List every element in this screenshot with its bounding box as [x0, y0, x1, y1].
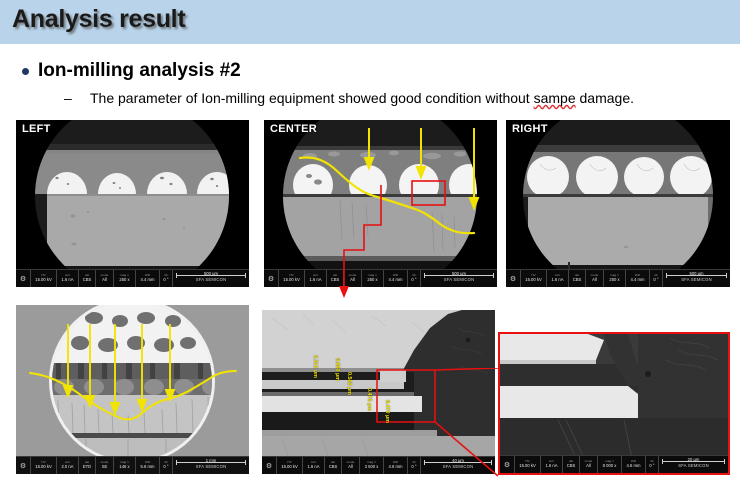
- databar-value: 0 °: [653, 278, 658, 282]
- databar-value: 0 °: [163, 465, 168, 469]
- scale-bar-bottom-left: 1 mm SFA SEMICON: [173, 457, 249, 474]
- databar-value: All: [592, 278, 597, 282]
- databar-value: 4.4 mm: [631, 278, 645, 282]
- databar-value: 0 °: [411, 278, 416, 282]
- scale-bar-line-icon: [666, 275, 728, 276]
- roi-rectangle-bottom-center[interactable]: [262, 310, 495, 474]
- vendor-name: SFA SEMICON: [196, 277, 227, 282]
- vendor-logo-icon: ⚙: [16, 457, 31, 474]
- vendor-name: SFA SEMICON: [681, 277, 712, 282]
- sem-image-center: [264, 120, 497, 287]
- databar-value: 250 x: [609, 278, 619, 282]
- databar-value: 0 °: [411, 465, 416, 469]
- scale-bar-right: 500 µm SFA SEMICON: [663, 270, 730, 287]
- misspelled-word: sampe: [534, 90, 576, 106]
- sem-image-bottom-center: [262, 310, 495, 474]
- databar-value: 8 000 x: [603, 464, 617, 468]
- scale-bar-line-icon: [176, 275, 246, 276]
- sem-panel-center[interactable]: CENTER ⚙ HV15.00 kV curr1.6 nA detCBS mo…: [264, 120, 497, 287]
- databar-value: All: [348, 465, 353, 469]
- measurement-label: 8.470 µm: [384, 400, 390, 423]
- databar-value: CBS: [567, 464, 576, 468]
- scale-bar-bottom-right: 20 µm SFA SEMICON: [659, 456, 728, 473]
- sem-image-bottom-left: [16, 305, 249, 474]
- sub-text-after: damage.: [576, 90, 634, 106]
- vendor-logo-icon: ⚙: [500, 456, 515, 473]
- databar-value: All: [586, 464, 591, 468]
- roi-rectangle-center[interactable]: [264, 120, 497, 287]
- yellow-annotation-overlay-center: [264, 120, 497, 287]
- dash-icon: –: [64, 90, 90, 106]
- panel-label-left: LEFT: [22, 123, 51, 135]
- measurement-label: 2.312 µm: [312, 355, 318, 378]
- databar-value: 1.6 nA: [309, 278, 321, 282]
- databar-value: All: [102, 278, 107, 282]
- databar-value: 5.6 mm: [141, 465, 155, 469]
- databar-value: 15.00 kV: [35, 465, 52, 469]
- databar-bottom-right: ⚙ HV15.00 kV curr1.6 nA detCBS modeAll m…: [500, 455, 728, 473]
- vendor-logo-icon: ⚙: [16, 270, 31, 287]
- databar-value: 15.00 kV: [519, 464, 536, 468]
- scale-bar-line-icon: [424, 275, 494, 276]
- databar-left: ⚙ HV15.00 kV curr1.6 nA detCBS modeAll m…: [16, 269, 249, 287]
- scale-bar-line-icon: [176, 462, 246, 463]
- scale-bar-line-icon: [424, 462, 492, 463]
- databar-value: 1.6 nA: [61, 278, 73, 282]
- databar-value: 250 x: [119, 278, 129, 282]
- sem-panel-bottom-right[interactable]: ⚙ HV15.00 kV curr1.6 nA detCBS modeAll m…: [498, 332, 730, 475]
- databar-value: 15.00 kV: [525, 278, 542, 282]
- databar-value: CBS: [573, 278, 582, 282]
- measurement-label: 0.860 µm: [334, 358, 340, 381]
- sub-bullet-label: The parameter of Ion-milling equipment s…: [90, 90, 634, 106]
- sem-image-left: [16, 120, 249, 287]
- vendor-name: SFA SEMICON: [443, 464, 474, 469]
- databar-value: 250 x: [367, 278, 377, 282]
- scale-bar-left: 500 µm SFA SEMICON: [173, 270, 249, 287]
- databar-value: SE: [102, 465, 108, 469]
- panel-label-center: CENTER: [270, 123, 317, 135]
- databar-value: 4.6 mm: [389, 465, 403, 469]
- scale-bar-line-icon: [662, 461, 725, 462]
- databar-value: 4.6 mm: [627, 464, 641, 468]
- vendor-logo-icon: ⚙: [506, 270, 521, 287]
- databar-value: All: [350, 278, 355, 282]
- page-title: Analysis result: [12, 5, 185, 34]
- databar-value: 15.00 kV: [283, 278, 300, 282]
- scale-bar-center: 500 µm SFA SEMICON: [421, 270, 497, 287]
- databar-value: 15.00 kV: [35, 278, 52, 282]
- databar-value: 0 °: [649, 464, 654, 468]
- yellow-annotation-overlay-bottom-left: [16, 305, 249, 474]
- databar-value: 146 x: [119, 465, 129, 469]
- databar-value: 1.6 nA: [307, 465, 319, 469]
- scale-bar-bottom-center: 40 µm SFA SEMICON: [421, 457, 495, 474]
- sem-image-bottom-right: [500, 334, 728, 473]
- slide-header: Analysis result: [0, 0, 740, 44]
- databar-value: ETD: [83, 465, 91, 469]
- sem-image-right: [506, 120, 730, 287]
- vendor-name: SFA SEMICON: [444, 277, 475, 282]
- vendor-logo-icon: ⚙: [264, 270, 279, 287]
- databar-value: 1.6 nA: [545, 464, 557, 468]
- databar-right: ⚙ HV15.00 kV curr1.6 nA detCBS modeAll m…: [506, 269, 730, 287]
- bullet-dot-icon: [22, 68, 29, 75]
- databar-value: 4.4 mm: [389, 278, 403, 282]
- sem-panel-right[interactable]: RIGHT ⚙ HV15.00 kV curr1.6 nA detCBS mod…: [506, 120, 730, 287]
- databar-bottom-center: ⚙ HV15.00 kV curr1.6 nA detCBS modeAll m…: [262, 456, 495, 474]
- sub-text-before: The parameter of Ion-milling equipment s…: [90, 90, 534, 106]
- bullet-label: Ion-milling analysis #2: [38, 60, 241, 82]
- databar-value: 15.00 kV: [281, 465, 298, 469]
- bullet-item: Ion-milling analysis #2: [22, 60, 241, 82]
- databar-value: CBS: [329, 465, 338, 469]
- databar-bottom-left: ⚙ HV15.00 kV curr2.0 nA detETD modeSE ma…: [16, 456, 249, 474]
- databar-value: 1.6 nA: [551, 278, 563, 282]
- databar-value: 0 °: [163, 278, 168, 282]
- sem-panel-bottom-center[interactable]: 2.312 µm 0.860 µm 0.562 µm 0.475 µm 8.47…: [262, 310, 495, 474]
- sem-panel-left[interactable]: LEFT ⚙ HV15.00 kV curr1.6 nA detCBS mode…: [16, 120, 249, 287]
- vendor-name: SFA SEMICON: [678, 463, 709, 468]
- vendor-name: SFA SEMICON: [196, 464, 227, 469]
- measurement-label: 0.562 µm: [346, 372, 352, 395]
- vendor-logo-icon: ⚙: [262, 457, 277, 474]
- databar-value: CBS: [331, 278, 340, 282]
- databar-value: 3 500 x: [365, 465, 379, 469]
- databar-value: 4.4 mm: [141, 278, 155, 282]
- databar-value: 2.0 nA: [61, 465, 73, 469]
- panel-label-right: RIGHT: [512, 123, 548, 135]
- databar-center: ⚙ HV15.00 kV curr1.6 nA detCBS modeAll m…: [264, 269, 497, 287]
- databar-value: CBS: [83, 278, 92, 282]
- sem-panel-bottom-left[interactable]: ⚙ HV15.00 kV curr2.0 nA detETD modeSE ma…: [16, 305, 249, 474]
- sub-bullet-item: – The parameter of Ion-milling equipment…: [64, 90, 634, 106]
- measurement-label: 0.475 µm: [366, 388, 372, 411]
